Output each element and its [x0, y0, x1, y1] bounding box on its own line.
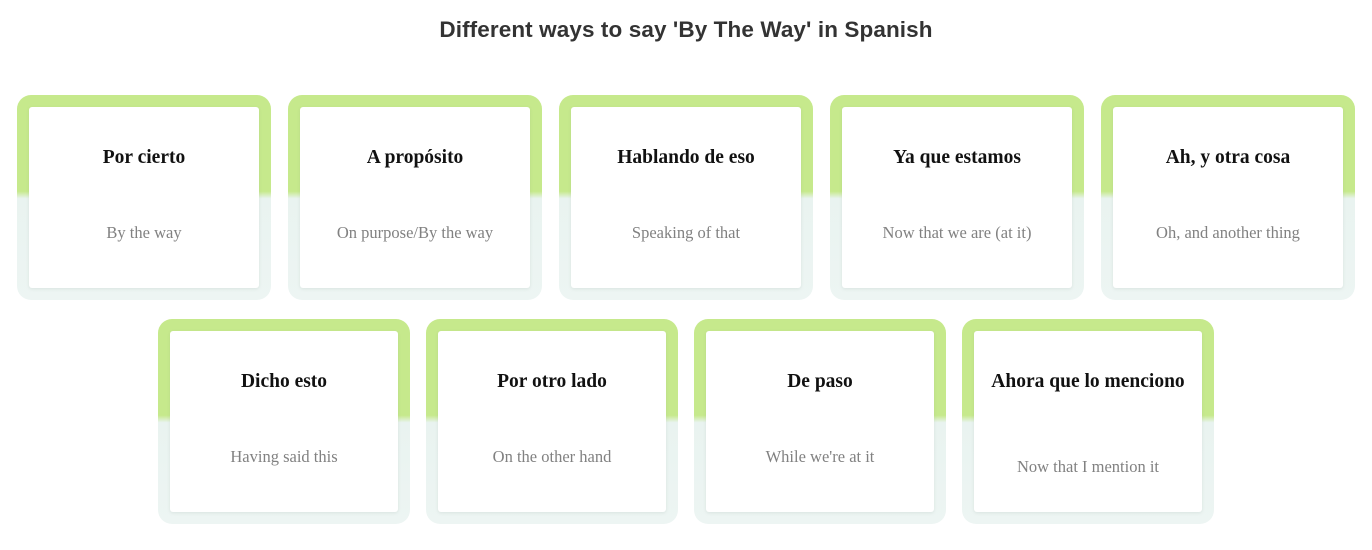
phrase-card[interactable]: Ya que estamos Now that we are (at it) — [830, 95, 1084, 300]
phrase-card[interactable]: Por otro lado On the other hand — [426, 319, 678, 524]
phrase-card-inner: De paso While we're at it — [706, 331, 934, 512]
phrase-card-inner: Ya que estamos Now that we are (at it) — [842, 107, 1072, 288]
card-grid: Por cierto By the way A propósito On pur… — [0, 95, 1372, 524]
phrase-translation: Oh, and another thing — [1127, 220, 1329, 245]
phrase-card[interactable]: Hablando de eso Speaking of that — [559, 95, 813, 300]
phrase-card-inner: Dicho esto Having said this — [170, 331, 398, 512]
phrase-card-inner: Hablando de eso Speaking of that — [571, 107, 801, 288]
phrase-translation: On purpose/By the way — [314, 220, 516, 245]
phrase-translation: Now that we are (at it) — [856, 220, 1058, 245]
phrase-card-inner: Ahora que lo menciono Now that I mention… — [974, 331, 1202, 512]
phrase-card-inner: Por otro lado On the other hand — [438, 331, 666, 512]
phrase-heading: Por otro lado — [448, 369, 656, 394]
phrase-translation: Speaking of that — [585, 220, 787, 245]
phrase-card-inner: Ah, y otra cosa Oh, and another thing — [1113, 107, 1343, 288]
phrase-heading: Por cierto — [39, 145, 249, 170]
phrase-heading: A propósito — [310, 145, 520, 170]
page-root: Different ways to say 'By The Way' in Sp… — [0, 0, 1372, 550]
phrase-card[interactable]: De paso While we're at it — [694, 319, 946, 524]
phrase-heading: Ahora que lo menciono — [984, 369, 1192, 394]
phrase-heading: Hablando de eso — [581, 145, 791, 170]
phrase-card[interactable]: Por cierto By the way — [17, 95, 271, 300]
page-title: Different ways to say 'By The Way' in Sp… — [0, 14, 1372, 46]
phrase-card-inner: A propósito On purpose/By the way — [300, 107, 530, 288]
phrase-translation: By the way — [43, 220, 245, 245]
phrase-translation: While we're at it — [720, 444, 920, 469]
phrase-heading: Dicho esto — [180, 369, 388, 394]
phrase-card[interactable]: A propósito On purpose/By the way — [288, 95, 542, 300]
phrase-card-inner: Por cierto By the way — [29, 107, 259, 288]
phrase-heading: Ah, y otra cosa — [1123, 145, 1333, 170]
phrase-translation: Now that I mention it — [988, 454, 1188, 479]
phrase-translation: On the other hand — [452, 444, 652, 469]
phrase-heading: De paso — [716, 369, 924, 394]
phrase-card[interactable]: Ahora que lo menciono Now that I mention… — [962, 319, 1214, 524]
phrase-heading: Ya que estamos — [852, 145, 1062, 170]
card-row-1: Por cierto By the way A propósito On pur… — [0, 95, 1372, 300]
phrase-card[interactable]: Ah, y otra cosa Oh, and another thing — [1101, 95, 1355, 300]
phrase-card[interactable]: Dicho esto Having said this — [158, 319, 410, 524]
phrase-translation: Having said this — [184, 444, 384, 469]
card-row-2: Dicho esto Having said this Por otro lad… — [0, 319, 1372, 524]
